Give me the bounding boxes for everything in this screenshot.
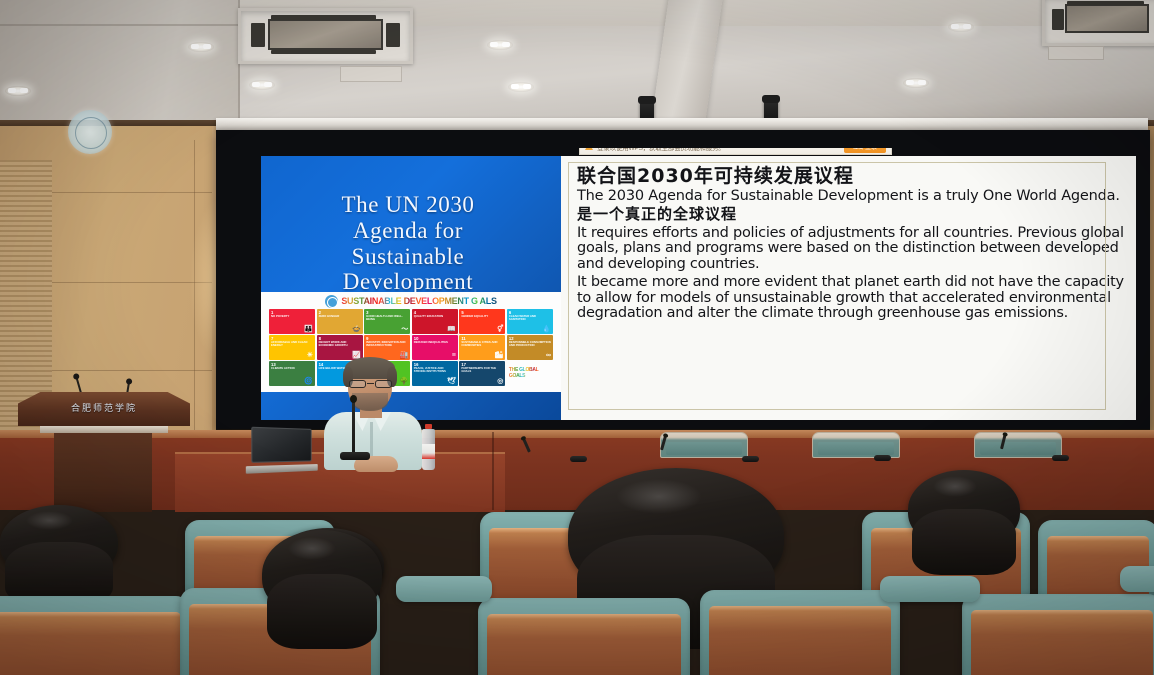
sdg-goal-tile-11: 11SUSTAINABLE CITIES AND COMMUNITIES🏙 (459, 335, 505, 360)
sdg-goal-tile-10: 10REDUCED INEQUALITIES≡ (412, 335, 458, 360)
ac-vent (251, 23, 265, 47)
wall-panel-seam (52, 192, 212, 193)
slide-chinese-subtitle: 是一个真正的全球议程 (577, 205, 1124, 223)
sdg-global-goals-logo: THE GLOBAL GOALS (507, 361, 553, 386)
sdg-goal-name: DECENT WORK AND ECONOMIC GROWTH (319, 341, 361, 347)
audience-head (568, 468, 784, 602)
ac-vent (271, 15, 376, 20)
presenter-beard (352, 393, 388, 411)
sdg-goal-icon: 👪 (304, 326, 313, 333)
ac-grille (268, 19, 383, 50)
sdg-goal-name: CLEAN WATER AND SANITATION (509, 315, 551, 321)
ceiling-downlight (903, 78, 929, 88)
sdg-goal-name: AFFORDABLE AND CLEAN ENERGY (271, 341, 313, 347)
sdg-goal-name: INDUSTRY, INNOVATION AND INFRASTRUCTURE (366, 341, 408, 347)
seat-armrest (1120, 566, 1154, 592)
ceiling-downlight (487, 40, 513, 50)
seat-armrest (396, 576, 492, 602)
stage-chair (660, 432, 748, 458)
sdg-goal-icon: 💧 (542, 326, 551, 333)
ceiling-downlight (249, 80, 275, 90)
sdg-goal-tile-2: 2ZERO HUNGER🍲 (317, 309, 363, 334)
sdg-goal-icon: 🏙 (495, 352, 504, 359)
ac-vent (271, 50, 376, 55)
presenter-microphone (352, 400, 355, 458)
sdg-goal-icon: 🏭 (400, 352, 409, 359)
slide-paragraph: It requires efforts and policies of adju… (577, 226, 1124, 272)
audience-head (908, 470, 1020, 548)
ac-vent (1052, 9, 1063, 30)
presenter-hair (345, 357, 395, 379)
title-line: The UN 2030 (261, 192, 555, 218)
lectern-podium: 合肥师范学院 (18, 392, 190, 512)
sdg-goal-name: QUALITY EDUCATION (414, 315, 456, 318)
sdg-goal-name: SUSTAINABLE CITIES AND COMMUNITIES (461, 341, 503, 347)
ac-vent (1067, 1, 1144, 6)
audience-head (0, 505, 118, 579)
wps-login-button[interactable]: 立即登录 (844, 148, 886, 153)
microphone-base (742, 456, 759, 462)
podium-institution-label: 合肥师范学院 (18, 401, 190, 414)
lecture-hall-photo: 登录以使用WPS，获取全部会员功能和服务。 立即登录 The UN 2030 A… (0, 0, 1154, 675)
microphone-base (1052, 455, 1069, 461)
audience-head (262, 530, 382, 618)
sdg-goal-name: NO POVERTY (271, 315, 313, 318)
sdg-goal-icon: ⚥ (497, 326, 503, 333)
laptop-screen (251, 427, 311, 463)
university-seal (68, 110, 112, 154)
podium-body (54, 433, 152, 512)
sdg-header: SUSTAINABLE DEVELOPMENT G ALS (261, 292, 561, 308)
sdg-goal-name: ZERO HUNGER (319, 315, 361, 318)
ceiling-downlight (508, 82, 534, 92)
sdg-goal-tile-13: 13CLIMATE ACTION🌀 (269, 361, 315, 386)
slide-english-lead: The 2030 Agenda for Sustainable Developm… (577, 189, 1124, 204)
sdg-goal-tile-12: 12RESPONSIBLE CONSUMPTION AND PRODUCTION… (507, 335, 553, 360)
ceiling (0, 0, 1154, 132)
stage-chair (974, 432, 1062, 458)
slide-chinese-title: 联合国2030年可持续发展议程 (577, 166, 1124, 188)
slide-main-title: The UN 2030 Agenda for Sustainable Devel… (261, 192, 555, 295)
sdg-goal-name: PARTNERSHIPS FOR THE GOALS (461, 367, 503, 373)
wps-notification-bar[interactable]: 登录以使用WPS，获取全部会员功能和服务。 立即登录 (579, 148, 892, 155)
microphone-base (874, 455, 891, 461)
stage-table-seam (492, 432, 494, 510)
ceiling-downlight (188, 42, 214, 52)
audience-seat (0, 596, 190, 675)
podium-shelf (40, 426, 168, 433)
eyeglasses-icon (348, 380, 393, 388)
sdg-goal-tile-5: 5GENDER EQUALITY⚥ (459, 309, 505, 334)
warning-triangle-icon (585, 148, 593, 150)
audience-seat (962, 594, 1154, 675)
ac-access-panel (340, 66, 402, 82)
sdg-goal-name: GOOD HEALTH AND WELL-BEING (366, 315, 408, 321)
bottle-label (422, 444, 435, 459)
sdg-goal-tile-6: 6CLEAN WATER AND SANITATION💧 (507, 309, 553, 334)
ceiling-soffit-left (0, 0, 240, 132)
ac-access-panel (1048, 46, 1104, 60)
sdg-goal-name: CLIMATE ACTION (271, 367, 313, 370)
audience-seat (700, 590, 900, 675)
sdg-goal-icon: ∞ (546, 352, 551, 359)
sdg-goal-tile-3: 3GOOD HEALTH AND WELL-BEING〜 (364, 309, 410, 334)
ceiling-downlight (948, 22, 974, 32)
podium-top: 合肥师范学院 (18, 392, 190, 426)
sdg-goal-icon: ◎ (497, 378, 503, 385)
laptop (251, 427, 317, 469)
microphone-base (340, 452, 370, 460)
sdg-goal-tile-1: 1NO POVERTY👪 (269, 309, 315, 334)
sdg-goal-tile-8: 8DECENT WORK AND ECONOMIC GROWTH📈 (317, 335, 363, 360)
sdg-goal-icon: ☀ (307, 352, 313, 359)
slide-body-panel: 联合国2030年可持续发展议程 The 2030 Agenda for Sust… (561, 156, 1136, 420)
sdg-goal-tile-17: 17PARTNERSHIPS FOR THE GOALS◎ (459, 361, 505, 386)
sdg-goal-tile-7: 7AFFORDABLE AND CLEAN ENERGY☀ (269, 335, 315, 360)
wall-panel-seam (52, 282, 212, 283)
seat-armrest (880, 576, 980, 602)
presenter-speaker (318, 360, 428, 465)
air-conditioner-unit (238, 8, 413, 64)
air-conditioner-unit (1042, 0, 1154, 46)
un-emblem-icon (325, 295, 338, 308)
ceiling-seam (0, 24, 240, 26)
sdg-goal-tile-4: 4QUALITY EDUCATION📖 (412, 309, 458, 334)
sdg-goal-icon: 〜 (401, 326, 408, 333)
slide-paragraph: It became more and more evident that pla… (577, 275, 1124, 321)
sdg-goal-icon: 🕊 (447, 378, 456, 385)
sdg-goal-icon: 📖 (447, 326, 456, 333)
sdg-goal-name: RESPONSIBLE CONSUMPTION AND PRODUCTION (509, 341, 551, 347)
sdg-goal-icon: 🍲 (352, 326, 361, 333)
ceiling-downlight (5, 86, 31, 96)
sdg-goal-name: GENDER EQUALITY (461, 315, 503, 318)
ac-vent (386, 23, 400, 47)
wall-panel-seam (52, 370, 212, 371)
title-line: Agenda for (261, 218, 555, 244)
sdg-goal-icon: ≡ (452, 352, 456, 359)
sdg-goal-name: REDUCED INEQUALITIES (414, 341, 456, 344)
water-bottle (422, 424, 435, 470)
sdg-goal-icon: 🌀 (304, 378, 313, 385)
audience-seat (478, 598, 690, 675)
sdg-wordmark: SUSTAINABLE DEVELOPMENT G ALS (341, 296, 496, 306)
wps-notification-message: 登录以使用WPS，获取全部会员功能和服务。 (597, 148, 840, 152)
title-line: Sustainable (261, 244, 555, 270)
ac-grille (1065, 4, 1149, 33)
microphone-base (570, 456, 587, 462)
